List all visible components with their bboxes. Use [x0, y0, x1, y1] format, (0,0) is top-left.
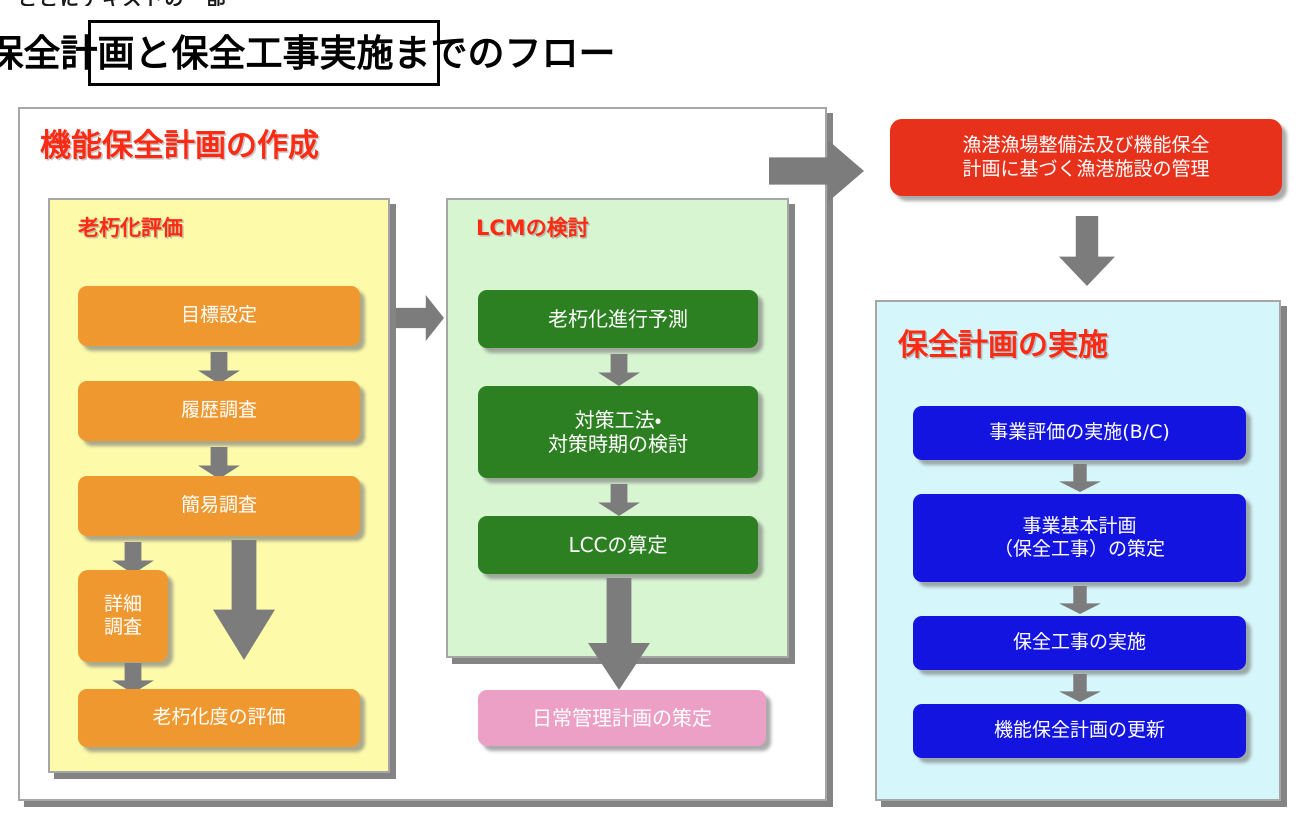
arrow-law-to-implementation-icon	[1059, 216, 1115, 286]
box-countermeasure-method-timing[interactable]: 対策工法・ 対策時期の検討	[478, 386, 758, 478]
heading-aging-evaluation: 老朽化評価	[78, 212, 183, 242]
box-project-basic-plan[interactable]: 事業基本計画 （保全工事）の策定	[913, 494, 1246, 582]
box-law-based-management[interactable]: 漁港漁場整備法及び機能保全 計画に基づく漁港施設の管理	[890, 119, 1282, 196]
box-daily-management-plan[interactable]: 日常管理計画の策定	[478, 690, 766, 746]
box-aging-progress-prediction[interactable]: 老朽化進行予測	[478, 290, 758, 348]
diagram-title: 機能保全計画と保全工事実施までのフロー	[0, 35, 616, 72]
clipped-top-text: ここにテキストの一部	[18, 0, 438, 6]
box-aging-degree-evaluation[interactable]: 老朽化度の評価	[78, 689, 360, 747]
box-simple-survey[interactable]: 簡易調査	[78, 476, 360, 536]
heading-lcm-study: LCMの検討	[476, 212, 589, 242]
heading-plan-creation: 機能保全計画の作成	[40, 120, 319, 165]
box-plan-update[interactable]: 機能保全計画の更新	[913, 704, 1246, 758]
box-project-evaluation[interactable]: 事業評価の実施(B/C)	[913, 406, 1246, 460]
box-history-survey[interactable]: 履歴調査	[78, 381, 360, 441]
diagram-canvas: ここにテキストの一部 機能保全計画と保全工事実施までのフロー 機能保全計画の作成…	[0, 0, 1306, 822]
diagram-title-box: 機能保全計画と保全工事実施までのフロー	[88, 20, 440, 86]
box-goal-setting[interactable]: 目標設定	[78, 286, 360, 346]
heading-implementation: 保全計画の実施	[898, 320, 1108, 364]
box-detailed-survey[interactable]: 詳細 調査	[78, 570, 168, 662]
box-maintenance-works[interactable]: 保全工事の実施	[913, 616, 1246, 670]
box-lcc-calculation[interactable]: LCCの算定	[478, 516, 758, 574]
